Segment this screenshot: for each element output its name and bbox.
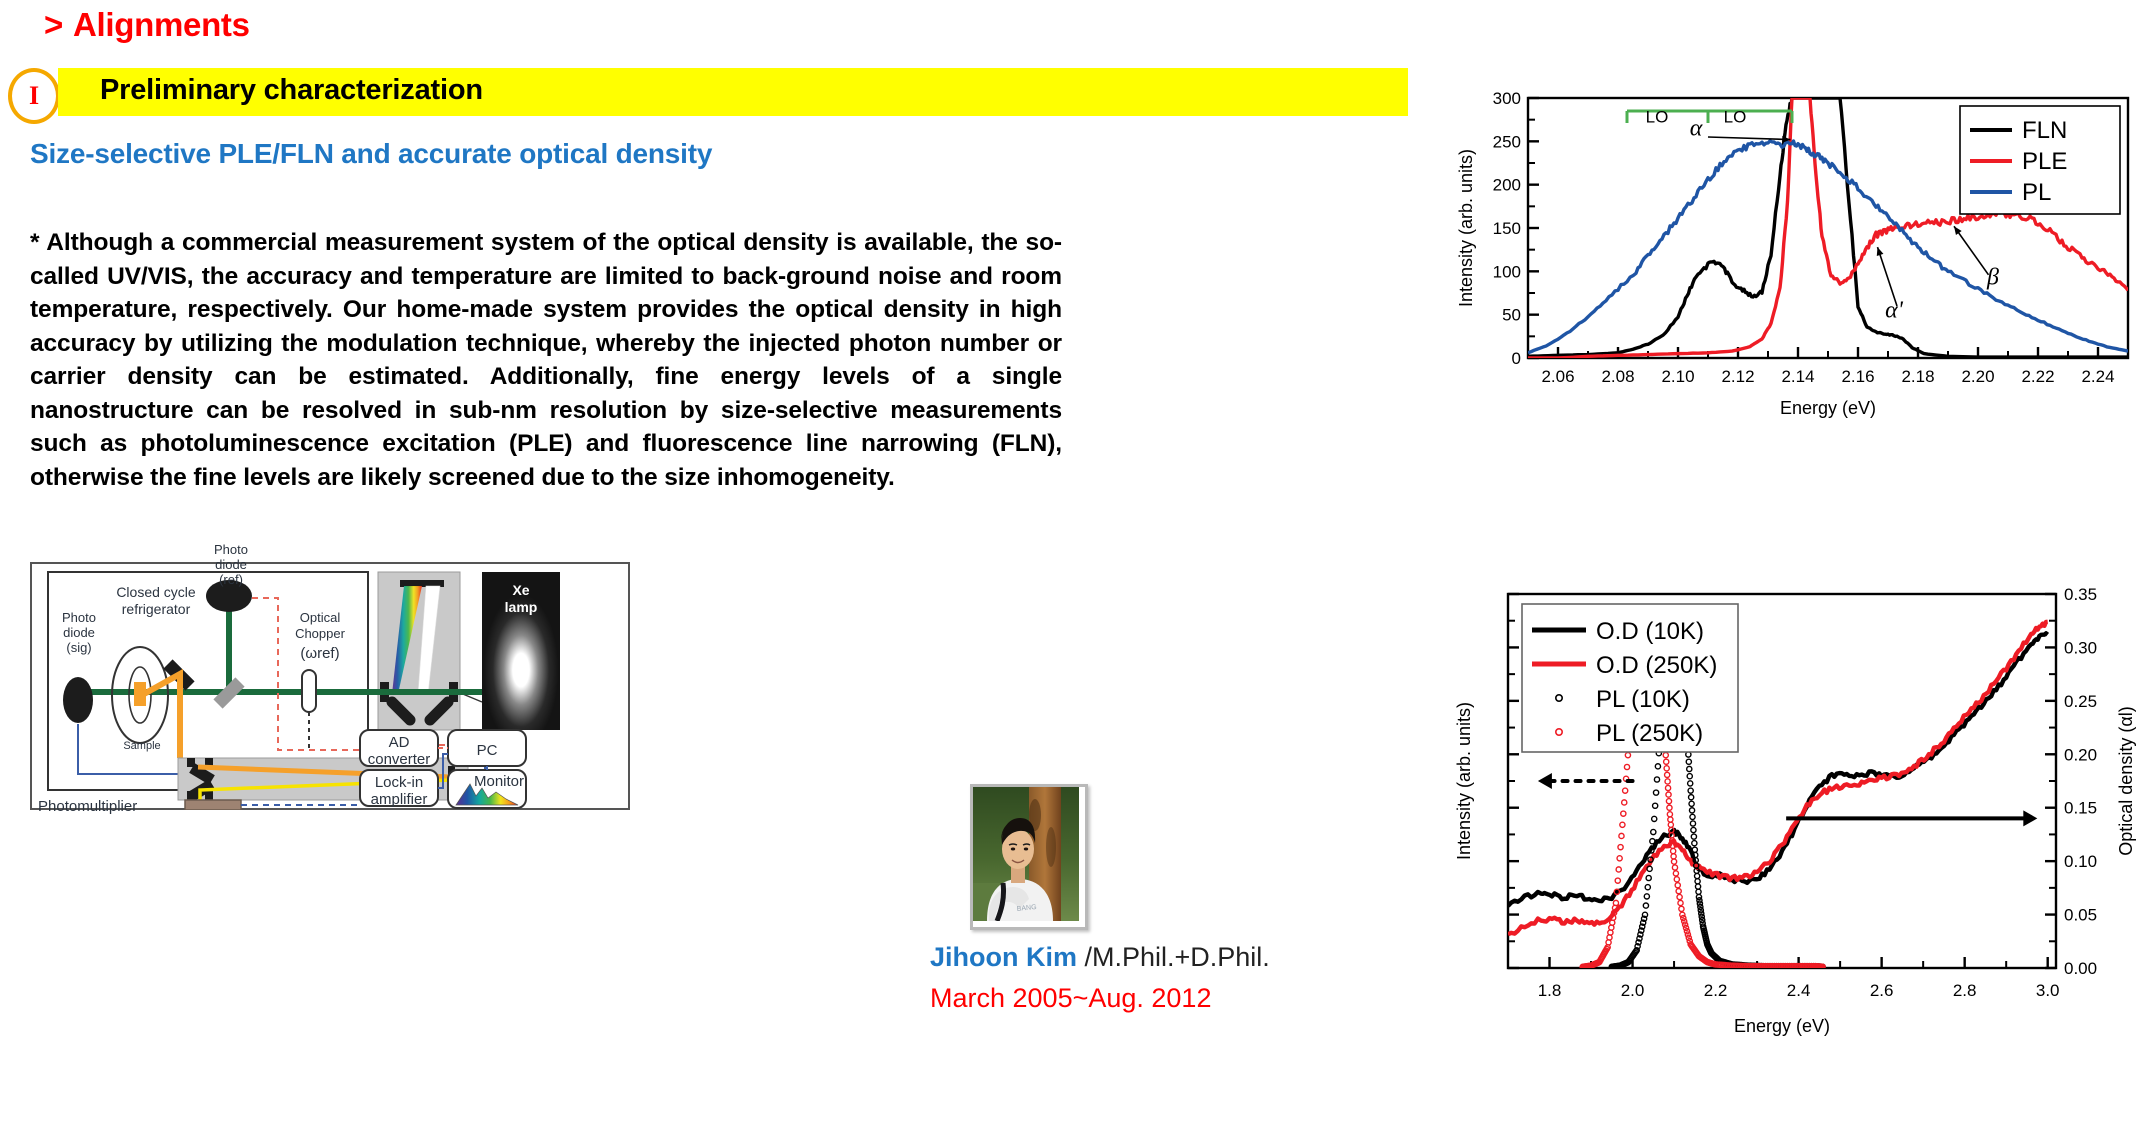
annotation-LO: LO	[1646, 107, 1669, 126]
person-photo: BANG	[970, 784, 1088, 930]
x-tick-label: 2.12	[1721, 367, 1754, 386]
y-axis-label: Intensity (arb. units)	[1454, 702, 1474, 860]
x-tick-label: 2.08	[1601, 367, 1634, 386]
xe-lamp-label-line1: Xe	[512, 582, 529, 598]
y-tick-label: 0	[1512, 349, 1521, 368]
y-tick-label: 150	[1493, 219, 1521, 238]
y2-tick-label: 0.00	[2064, 959, 2097, 978]
x-axis-label: Energy (eV)	[1780, 398, 1876, 418]
y-tick-label: 250	[1493, 132, 1521, 151]
y-tick-label: 50	[1502, 306, 1521, 325]
x-axis-label: Energy (eV)	[1734, 1016, 1830, 1036]
legend-label-fln: FLN	[2022, 117, 2067, 144]
person-caption: Jihoon Kim /M.Phil.+D.Phil.	[930, 942, 1270, 973]
xe-lamp-label-line2: lamp	[505, 599, 538, 615]
y2-tick-label: 0.25	[2064, 692, 2097, 711]
legend-label-pl-250k-: PL (250K)	[1596, 720, 1703, 747]
person-dates: March 2005~Aug. 2012	[930, 983, 1211, 1014]
chart-od-pl: 0.000.050.100.150.200.250.300.351.82.02.…	[1452, 578, 2142, 1046]
y-tick-label: 300	[1493, 89, 1521, 108]
annotation-α: α	[1690, 115, 1703, 141]
photomultiplier-icon	[185, 800, 241, 810]
y2-tick-label: 0.10	[2064, 852, 2097, 871]
pc-box	[448, 730, 526, 766]
photo-diode-sig-icon	[63, 677, 93, 723]
y2-tick-label: 0.30	[2064, 638, 2097, 657]
nav-heading: >Alignments	[44, 6, 250, 44]
x-tick-label: 2.6	[1870, 981, 1894, 1000]
chart-fln-ple-pl: 0501001502002503002.062.082.102.122.142.…	[1452, 82, 2142, 422]
y2-tick-label: 0.35	[2064, 585, 2097, 604]
x-tick-label: 2.22	[2021, 367, 2054, 386]
lock-in-amplifier-box	[360, 770, 438, 806]
x-tick-label: 2.4	[1787, 981, 1811, 1000]
legend-label-ple: PLE	[2022, 148, 2067, 175]
x-tick-label: 2.2	[1704, 981, 1728, 1000]
annotation-LO: LO	[1724, 107, 1747, 126]
section-badge: I	[8, 68, 60, 124]
photo-diode-ref-label-1: Photo	[209, 542, 253, 557]
y-tick-label: 200	[1493, 176, 1521, 195]
x-tick-label: 3.0	[2036, 981, 2060, 1000]
optics-enclosure	[48, 572, 368, 790]
annotation-β: β	[1986, 264, 1999, 290]
x-tick-label: 2.10	[1661, 367, 1694, 386]
x-tick-label: 2.14	[1781, 367, 1814, 386]
apparatus-diagram: Xe lamp	[30, 562, 630, 810]
legend-label-o-d-250k-: O.D (250K)	[1596, 652, 1717, 679]
x-tick-label: 2.16	[1841, 367, 1874, 386]
y2-tick-label: 0.20	[2064, 745, 2097, 764]
x-tick-label: 2.20	[1961, 367, 1994, 386]
x-tick-label: 2.18	[1901, 367, 1934, 386]
section-title: Preliminary characterization	[100, 74, 483, 107]
x-tick-label: 2.24	[2081, 367, 2114, 386]
chevron-right-icon: >	[44, 6, 63, 43]
beam-splitter	[218, 682, 240, 704]
ad-converter-box	[360, 730, 438, 766]
annotation-αprime: α'	[1885, 297, 1904, 323]
x-tick-label: 1.8	[1538, 981, 1562, 1000]
person-name: Jihoon Kim	[930, 942, 1077, 972]
x-tick-label: 2.0	[1621, 981, 1645, 1000]
optical-chopper-icon	[302, 670, 316, 712]
section-badge-label: I	[29, 81, 39, 111]
legend-label-pl-10k-: PL (10K)	[1596, 686, 1690, 713]
y2-tick-label: 0.05	[2064, 906, 2097, 925]
body-paragraph: * Although a commercial measurement syst…	[30, 226, 1062, 494]
x-tick-label: 2.8	[1953, 981, 1977, 1000]
legend-label-pl: PL	[2022, 179, 2051, 206]
y2-axis-label: Optical density (αl)	[2116, 706, 2136, 855]
legend-label-o-d-10k-: O.D (10K)	[1596, 618, 1704, 645]
person-degree: /M.Phil.+D.Phil.	[1077, 942, 1270, 972]
y2-tick-label: 0.15	[2064, 799, 2097, 818]
y-axis-label: Intensity (arb. units)	[1456, 149, 1476, 307]
y-tick-label: 100	[1493, 262, 1521, 281]
nav-heading-label: Alignments	[73, 6, 250, 43]
page-subtitle: Size-selective PLE/FLN and accurate opti…	[30, 138, 712, 170]
photo-diode-ref-icon	[206, 580, 252, 612]
x-tick-label: 2.06	[1541, 367, 1574, 386]
